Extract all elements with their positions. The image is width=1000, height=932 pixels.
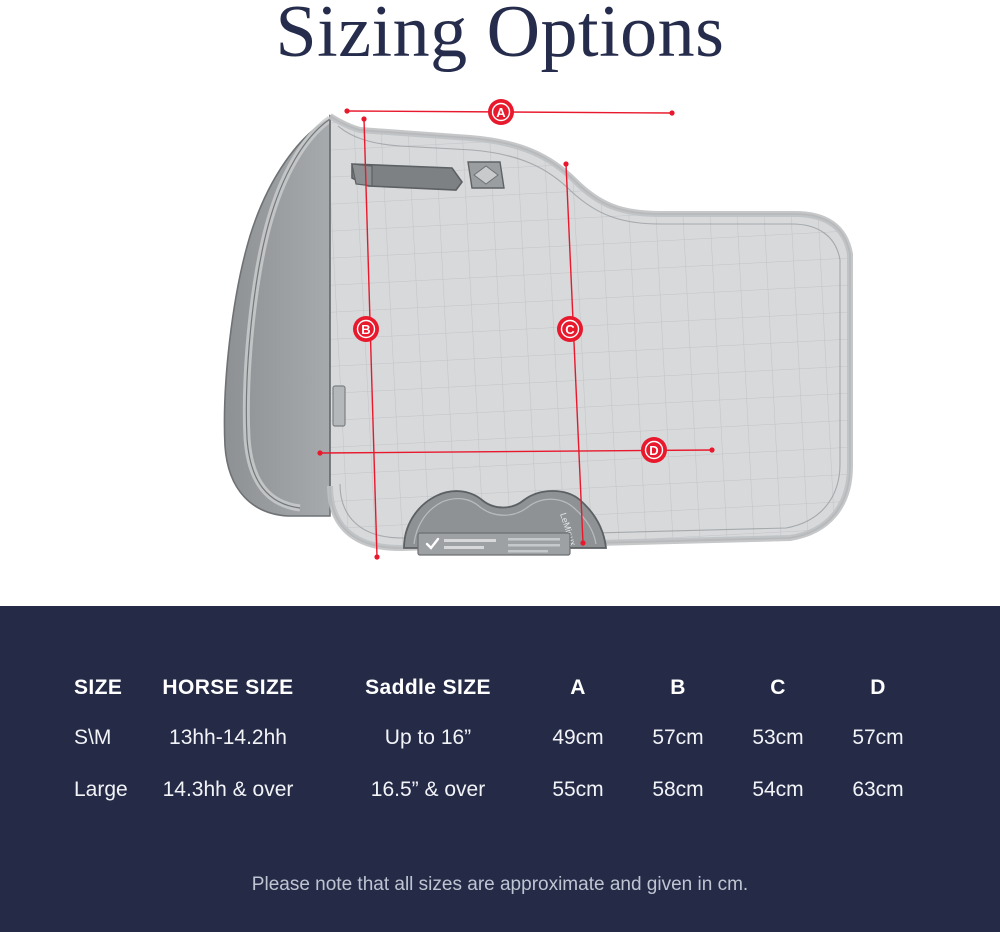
cell-size: Large: [0, 778, 128, 802]
cell-size: S\M: [0, 726, 128, 750]
marker-a-label: A: [496, 105, 506, 120]
saddle-pad-illustration: LeMieux: [0, 86, 1000, 586]
header-d: D: [828, 676, 928, 700]
table-row: S\M 13hh-14.2hh Up to 16” 49cm 57cm 53cm…: [0, 712, 1000, 764]
marker-c: C: [557, 316, 583, 342]
table-header-row: SIZE HORSE SIZE Saddle SIZE A B C D: [0, 664, 1000, 712]
cell-horse-size: 14.3hh & over: [128, 778, 328, 802]
cell-saddle-size: 16.5” & over: [328, 778, 528, 802]
cell-c: 53cm: [728, 726, 828, 750]
marker-b-label: B: [361, 322, 370, 337]
header-c: C: [728, 676, 828, 700]
header-a: A: [528, 676, 628, 700]
saddle-pad-diagram: LeMieux: [0, 86, 1000, 586]
marker-c-label: C: [565, 322, 575, 337]
sizing-options-page: Sizing Options: [0, 0, 1000, 932]
table-row: Large 14.3hh & over 16.5” & over 55cm 58…: [0, 764, 1000, 816]
marker-a: A: [488, 99, 514, 125]
cell-d: 63cm: [828, 778, 928, 802]
cell-b: 58cm: [628, 778, 728, 802]
sizing-table: SIZE HORSE SIZE Saddle SIZE A B C D S\M …: [0, 664, 1000, 816]
cell-saddle-size: Up to 16”: [328, 726, 528, 750]
sizing-note: Please note that all sizes are approxima…: [0, 874, 1000, 896]
marker-d-label: D: [649, 443, 658, 458]
cell-c: 54cm: [728, 778, 828, 802]
header-size: SIZE: [0, 676, 128, 700]
page-title: Sizing Options: [276, 0, 725, 69]
pad-left-wing: [224, 119, 330, 516]
marker-d: D: [641, 437, 667, 463]
cell-a: 55cm: [528, 778, 628, 802]
sizing-table-panel: SIZE HORSE SIZE Saddle SIZE A B C D S\M …: [0, 606, 1000, 932]
cell-horse-size: 13hh-14.2hh: [128, 726, 328, 750]
header-saddle-size: Saddle SIZE: [328, 676, 528, 700]
header-horse-size: HORSE SIZE: [128, 676, 328, 700]
page-title-area: Sizing Options: [0, 0, 1000, 80]
cell-b: 57cm: [628, 726, 728, 750]
marker-b: B: [353, 316, 379, 342]
header-b: B: [628, 676, 728, 700]
cell-d: 57cm: [828, 726, 928, 750]
cell-a: 49cm: [528, 726, 628, 750]
